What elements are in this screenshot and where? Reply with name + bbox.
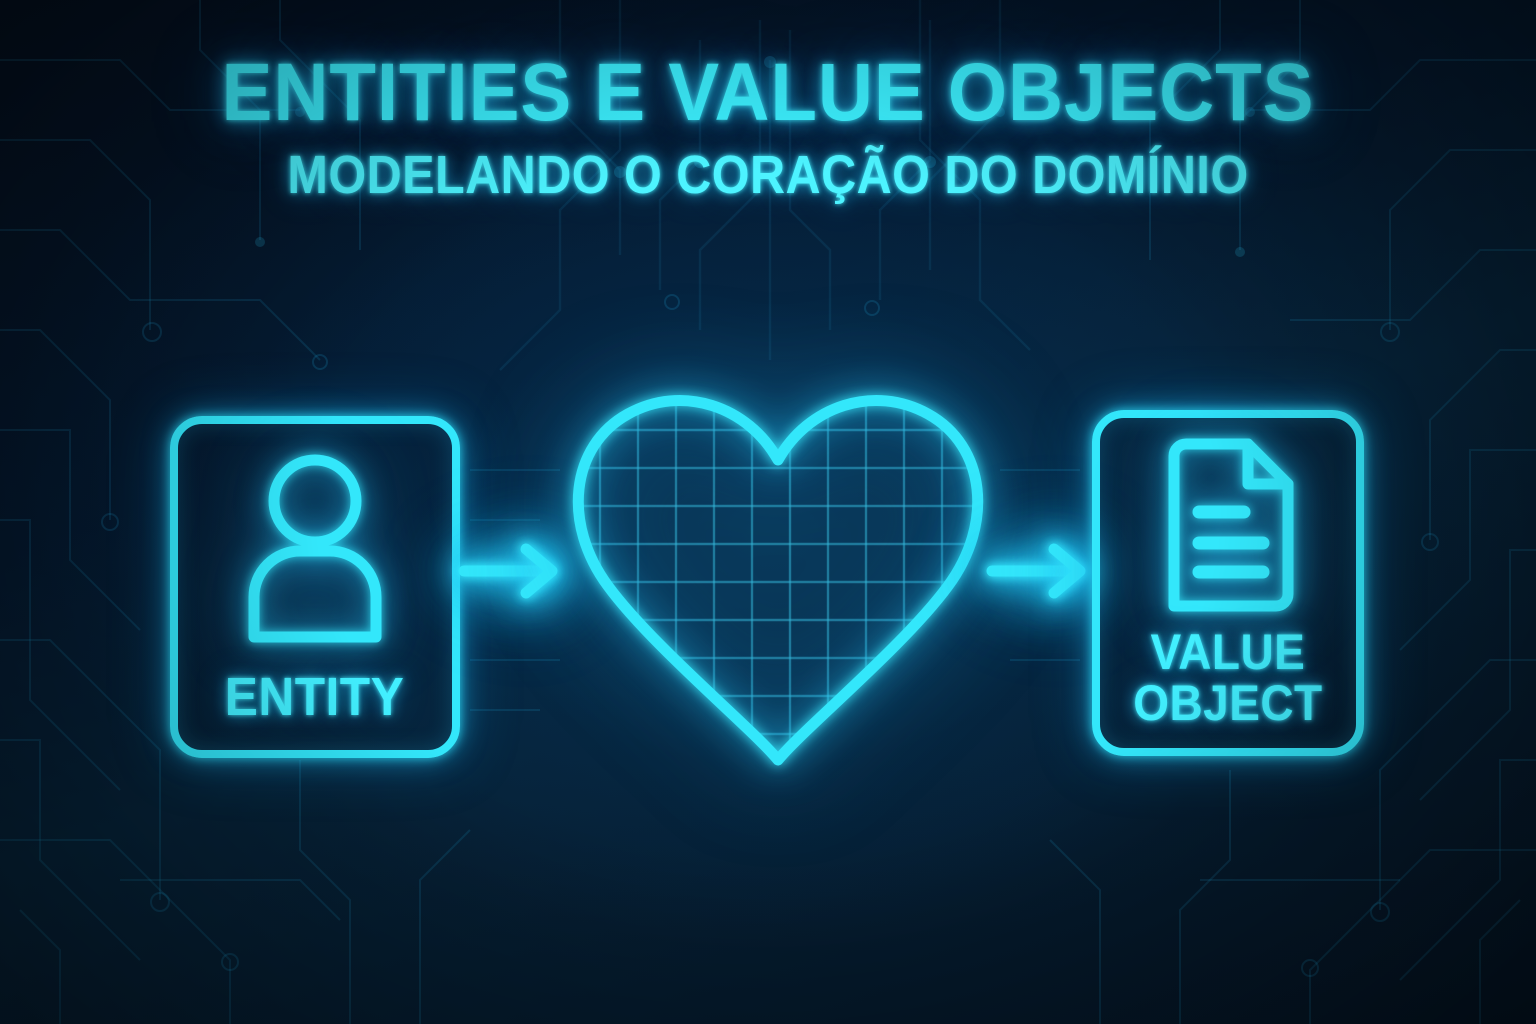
document-icon bbox=[1152, 437, 1304, 617]
person-icon bbox=[240, 449, 390, 654]
arrow-right-icon bbox=[458, 540, 568, 602]
page-title: ENTITIES E VALUE OBJECTS bbox=[54, 52, 1482, 134]
header-block: ENTITIES E VALUE OBJECTS MODELANDO O COR… bbox=[0, 52, 1536, 202]
arrow-heart-to-right bbox=[986, 540, 1096, 602]
slide-canvas: ENTITIES E VALUE OBJECTS MODELANDO O COR… bbox=[0, 0, 1536, 1024]
entity-card-label: ENTITY bbox=[225, 670, 404, 725]
heart-icon bbox=[556, 378, 1000, 778]
arrow-right-icon bbox=[986, 540, 1096, 602]
value-object-label-line2: OBJECT bbox=[1133, 678, 1322, 729]
value-object-card[interactable]: VALUE OBJECT bbox=[1092, 410, 1364, 756]
entity-card[interactable]: ENTITY bbox=[170, 416, 460, 758]
value-object-card-label: VALUE OBJECT bbox=[1133, 627, 1322, 729]
arrow-left-to-heart bbox=[458, 540, 568, 602]
page-subtitle: MODELANDO O CORAÇÃO DO DOMÍNIO bbox=[77, 148, 1459, 202]
value-object-label-line1: VALUE bbox=[1133, 627, 1322, 678]
